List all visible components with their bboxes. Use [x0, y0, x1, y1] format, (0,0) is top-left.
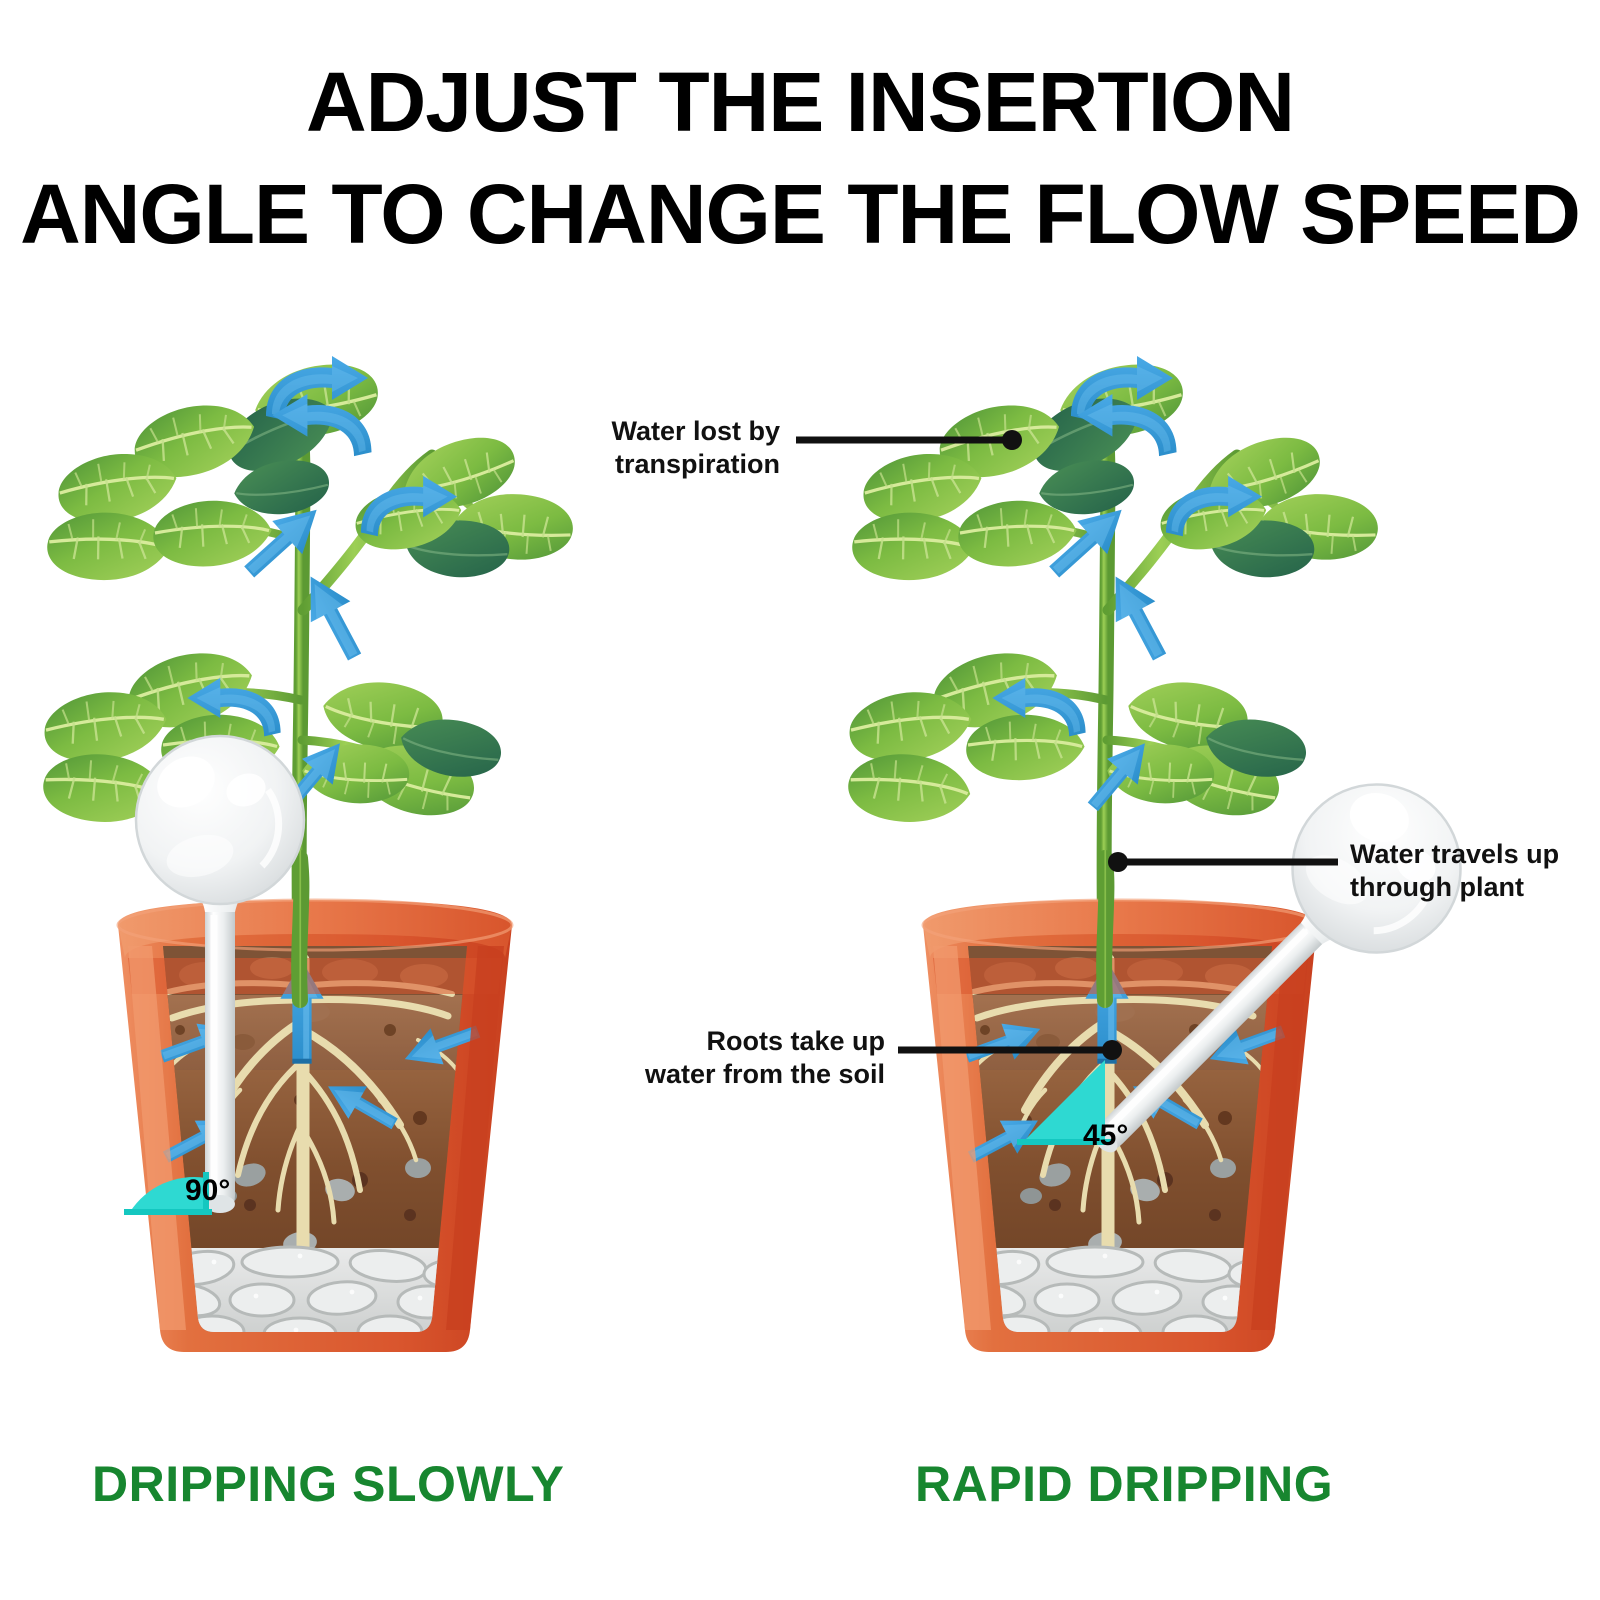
annotation-transpiration: Water lost by transpiration	[430, 415, 780, 481]
leader-dot-icon	[1102, 1040, 1122, 1060]
leader-dot-icon	[1002, 430, 1022, 450]
right-stem-base	[1104, 858, 1106, 1000]
left-flower-pot	[118, 900, 512, 1358]
annotation-water-travels-up: Water travels up through plant	[1350, 838, 1600, 904]
caption-rapid-dripping: RAPID DRIPPING	[915, 1455, 1333, 1513]
right-angle-label: 45°	[1083, 1119, 1128, 1152]
left-angle-label: 90°	[185, 1174, 230, 1207]
infographic-canvas: ADJUST THE INSERTION ANGLE TO CHANGE THE…	[0, 0, 1600, 1600]
left-plant-illustration	[39, 356, 577, 1358]
leader-dot-icon	[1108, 852, 1128, 872]
caption-dripping-slowly: DRIPPING SLOWLY	[92, 1455, 564, 1513]
left-stem-base	[299, 858, 301, 1000]
diagram-illustration: 90° 45°	[0, 0, 1600, 1600]
annotation-roots-uptake: Roots take up water from the soil	[570, 1025, 885, 1091]
